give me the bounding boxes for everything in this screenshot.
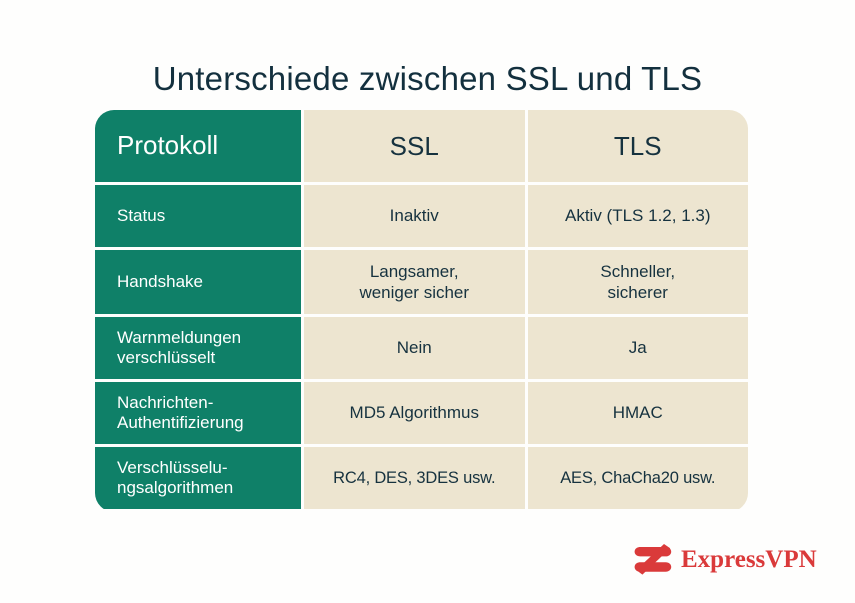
- row-value-tls-alert-encryption: Ja: [528, 317, 749, 379]
- row-value-ssl-message-authentication: MD5 Algorithmus: [304, 382, 525, 444]
- table-header-cell-tls: TLS: [528, 110, 749, 182]
- page-title: Unterschiede zwischen SSL und TLS: [0, 60, 855, 98]
- row-label-text: Status: [117, 206, 165, 226]
- row-label-alert-encryption: Warnmeldungen verschlüsselt: [95, 317, 301, 379]
- row-value-text: Ja: [629, 337, 647, 358]
- row-value-text: RC4, DES, 3DES usw.: [333, 468, 495, 489]
- table-row: Warnmeldungen verschlüsselt Nein Ja: [95, 317, 748, 379]
- table-header-label-tls: TLS: [614, 130, 662, 163]
- row-value-text: MD5 Algorithmus: [350, 402, 479, 423]
- row-value-text: Aktiv (TLS 1.2, 1.3): [565, 205, 711, 226]
- row-value-text: Inaktiv: [390, 205, 439, 226]
- row-value-ssl-alert-encryption: Nein: [304, 317, 525, 379]
- row-value-ssl-status: Inaktiv: [304, 185, 525, 247]
- row-value-tls-message-authentication: HMAC: [528, 382, 749, 444]
- table-header-row: Protokoll SSL TLS: [95, 110, 748, 182]
- table-header-label-protocol: Protokoll: [117, 130, 218, 161]
- row-value-tls-handshake: Schneller, sicherer: [528, 250, 749, 314]
- table-header-cell-protocol: Protokoll: [95, 110, 301, 182]
- row-value-tls-cipher-algorithms: AES, ChaCha20 usw.: [528, 447, 749, 509]
- table-row: Status Inaktiv Aktiv (TLS 1.2, 1.3): [95, 185, 748, 247]
- table-row: Nachrichten- Authentifizierung MD5 Algor…: [95, 382, 748, 444]
- row-label-handshake: Handshake: [95, 250, 301, 314]
- row-label-status: Status: [95, 185, 301, 247]
- row-value-text: HMAC: [613, 402, 663, 423]
- row-value-ssl-handshake: Langsamer, weniger sicher: [304, 250, 525, 314]
- infographic-root: Unterschiede zwischen SSL und TLS Protok…: [0, 0, 855, 603]
- row-value-ssl-cipher-algorithms: RC4, DES, 3DES usw.: [304, 447, 525, 509]
- table-row: Verschlüsselu- ngsalgorithmen RC4, DES, …: [95, 447, 748, 509]
- expressvpn-e-mark-icon: [634, 543, 672, 576]
- expressvpn-logo: ExpressVPN: [634, 543, 817, 576]
- expressvpn-wordmark: ExpressVPN: [681, 546, 817, 574]
- table-body: Protokoll SSL TLS Status Inaktiv Aktiv: [95, 110, 748, 512]
- row-value-text: AES, ChaCha20 usw.: [560, 468, 715, 489]
- row-label-message-authentication: Nachrichten- Authentifizierung: [95, 382, 301, 444]
- row-value-text: Nein: [397, 337, 432, 358]
- row-value-tls-status: Aktiv (TLS 1.2, 1.3): [528, 185, 749, 247]
- row-label-text: Nachrichten- Authentifizierung: [117, 393, 244, 434]
- table-header-cell-ssl: SSL: [304, 110, 525, 182]
- row-value-text: Schneller, sicherer: [600, 261, 675, 304]
- table-header-label-ssl: SSL: [390, 130, 439, 163]
- row-value-text: Langsamer, weniger sicher: [359, 261, 469, 304]
- row-label-text: Verschlüsselu- ngsalgorithmen: [117, 458, 233, 499]
- table-row: Handshake Langsamer, weniger sicher Schn…: [95, 250, 748, 314]
- row-label-text: Handshake: [117, 272, 203, 292]
- row-label-text: Warnmeldungen verschlüsselt: [117, 328, 241, 369]
- row-label-cipher-algorithms: Verschlüsselu- ngsalgorithmen: [95, 447, 301, 509]
- comparison-table: Protokoll SSL TLS Status Inaktiv Aktiv: [95, 110, 748, 512]
